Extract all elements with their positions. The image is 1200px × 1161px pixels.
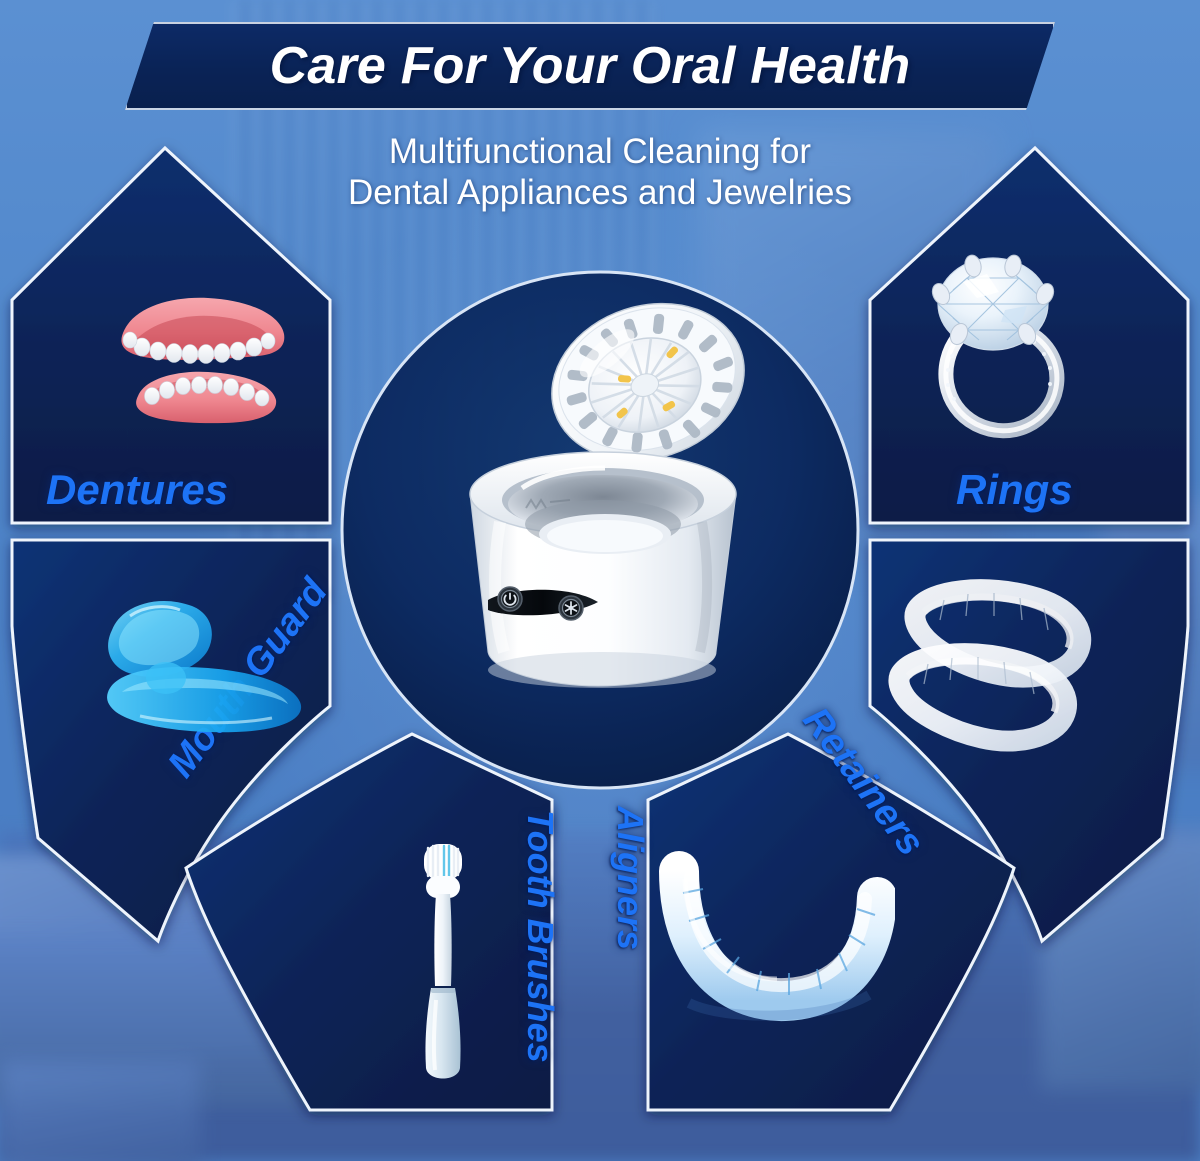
power-icon[interactable] bbox=[498, 587, 522, 611]
page-subtitle: Multifunctional Cleaning for Dental Appl… bbox=[0, 132, 1200, 214]
toothbrush-icon bbox=[398, 838, 488, 1088]
retainers-icon bbox=[872, 578, 1107, 768]
ring-icon bbox=[898, 246, 1088, 446]
subtitle-line-2: Dental Appliances and Jewelries bbox=[0, 173, 1200, 214]
title-banner: Care For Your Oral Health bbox=[125, 22, 1055, 110]
subtitle-line-1: Multifunctional Cleaning for bbox=[0, 132, 1200, 173]
mouth-guard-icon bbox=[96, 592, 321, 747]
page-title: Care For Your Oral Health bbox=[270, 36, 911, 96]
segment-label-tooth-brushes: Tooth Brushes bbox=[519, 810, 561, 1063]
ultrasonic-cleaner[interactable] bbox=[430, 272, 780, 722]
segment-label-dentures: Dentures bbox=[46, 466, 228, 514]
device-body bbox=[470, 452, 736, 688]
dentures-icon bbox=[108, 288, 298, 433]
sterilize-icon[interactable] bbox=[559, 596, 583, 620]
aligners-icon bbox=[645, 845, 895, 1035]
segment-label-rings: Rings bbox=[956, 466, 1073, 514]
